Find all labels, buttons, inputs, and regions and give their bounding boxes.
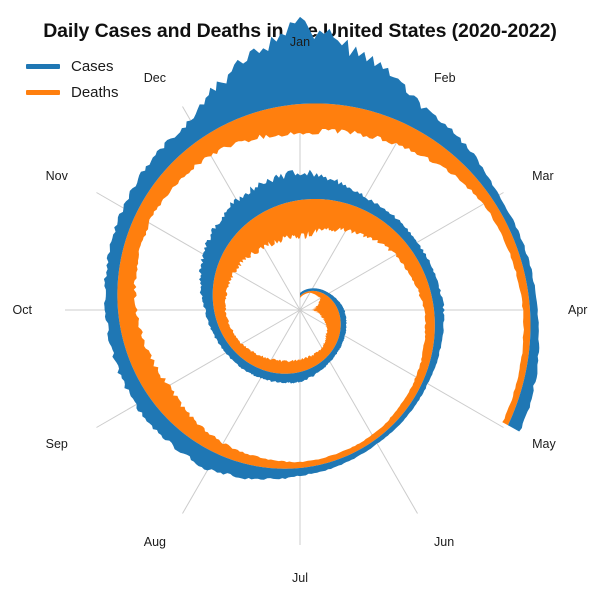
grid-spoke [183, 310, 301, 514]
month-label-apr: Apr [568, 303, 587, 317]
month-label-nov: Nov [46, 169, 69, 183]
chart-root: Daily Cases and Deaths in the United Sta… [0, 0, 600, 600]
month-label-sep: Sep [46, 437, 68, 451]
month-label-feb: Feb [434, 71, 456, 85]
month-label-mar: Mar [532, 169, 554, 183]
month-label-dec: Dec [144, 71, 166, 85]
month-label-jun: Jun [434, 535, 454, 549]
month-label-jan: Jan [290, 35, 310, 49]
month-label-may: May [532, 437, 556, 451]
spiral-plot: JanFebMarAprMayJunJulAugSepOctNovDec [0, 0, 600, 600]
month-label-aug: Aug [144, 535, 166, 549]
month-label-jul: Jul [292, 571, 308, 585]
month-label-oct: Oct [13, 303, 33, 317]
